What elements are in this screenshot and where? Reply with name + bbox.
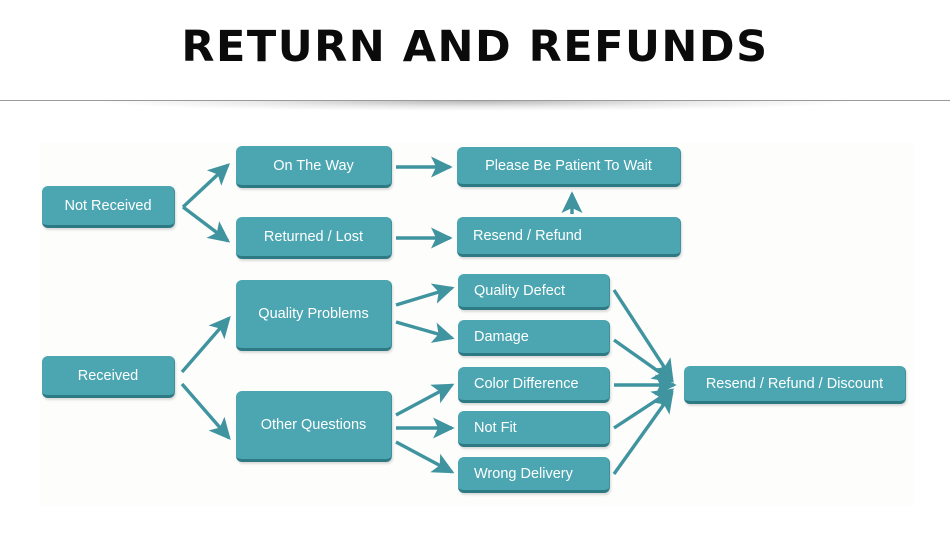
node-label: Not Fit — [474, 420, 517, 436]
node-on-the-way[interactable]: On The Way — [236, 146, 392, 188]
node-not-received[interactable]: Not Received — [42, 186, 175, 228]
node-label: Please Be Patient To Wait — [485, 158, 652, 174]
node-label: Quality Problems — [258, 306, 368, 322]
node-please-be-patient[interactable]: Please Be Patient To Wait — [457, 147, 681, 187]
node-resend-refund[interactable]: Resend / Refund — [457, 217, 681, 257]
node-quality-problems[interactable]: Quality Problems — [236, 280, 392, 351]
node-quality-defect[interactable]: Quality Defect — [458, 274, 610, 310]
node-label: Not Received — [64, 198, 151, 214]
node-returned-lost[interactable]: Returned / Lost — [236, 217, 392, 259]
node-label: Color Difference — [474, 376, 579, 392]
node-label: On The Way — [273, 158, 354, 174]
node-label: Received — [78, 368, 138, 384]
node-label: Quality Defect — [474, 283, 565, 299]
node-label: Returned / Lost — [264, 229, 363, 245]
node-label: Damage — [474, 329, 529, 345]
node-received[interactable]: Received — [42, 356, 175, 398]
node-label: Wrong Delivery — [474, 466, 573, 482]
node-wrong-delivery[interactable]: Wrong Delivery — [458, 457, 610, 493]
node-label: Resend / Refund / Discount — [706, 376, 883, 392]
node-label: Other Questions — [261, 417, 367, 433]
node-not-fit[interactable]: Not Fit — [458, 411, 610, 447]
header-divider-shadow — [0, 101, 950, 114]
node-label: Resend / Refund — [473, 228, 582, 244]
node-color-difference[interactable]: Color Difference — [458, 367, 610, 403]
node-other-questions[interactable]: Other Questions — [236, 391, 392, 462]
page-title: RETURN AND REFUNDS — [0, 26, 950, 69]
node-damage[interactable]: Damage — [458, 320, 610, 356]
node-resend-refund-discount[interactable]: Resend / Refund / Discount — [684, 366, 906, 404]
